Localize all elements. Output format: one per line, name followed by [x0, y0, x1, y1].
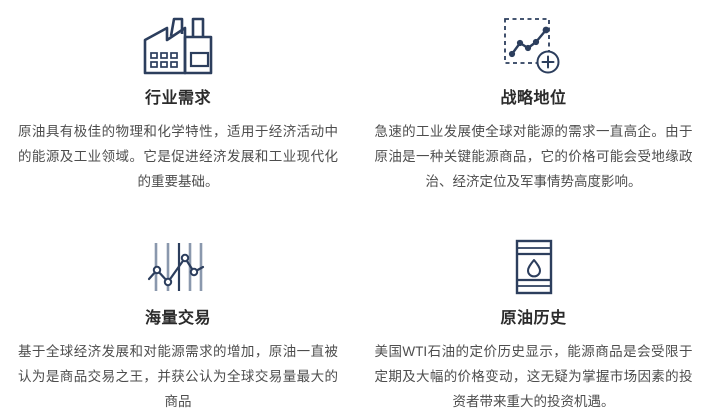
card-title: 行业需求 — [145, 88, 211, 110]
card-title: 原油历史 — [500, 308, 566, 330]
card-body: 原油具有极佳的物理和化学特性，适用于经济活动中的能源及工业领域。它是促进经济发展… — [18, 119, 338, 194]
card-body: 基于全球经济发展和对能源需求的增加，原油一直被认为是商品交易之王，并获公认为全球… — [18, 339, 338, 414]
feature-card-industry-demand: 行业需求 原油具有极佳的物理和化学特性，适用于经济活动中的能源及工业领域。它是促… — [0, 0, 356, 207]
volume-chart-icon — [146, 227, 210, 306]
card-body: 美国WTI石油的定价历史显示，能源商品是会受限于定期及大幅的价格变动，这无疑为掌… — [375, 339, 693, 414]
feature-grid: 行业需求 原油具有极佳的物理和化学特性，适用于经济活动中的能源及工业领域。它是促… — [0, 0, 711, 414]
feature-card-crude-oil-history: 原油历史 美国WTI石油的定价历史显示，能源商品是会受限于定期及大幅的价格变动，… — [356, 207, 711, 414]
card-body: 急速的工业发展使全球对能源的需求一直高企。由于原油是一种关键能源商品，它的价格可… — [375, 119, 693, 194]
factory-icon — [141, 6, 215, 86]
card-title: 战略地位 — [500, 88, 566, 110]
feature-card-strategic-position: 战略地位 急速的工业发展使全球对能源的需求一直高企。由于原油是一种关键能源商品，… — [356, 0, 711, 207]
line-chart-add-icon — [501, 6, 567, 86]
feature-card-massive-trading: 海量交易 基于全球经济发展和对能源需求的增加，原油一直被认为是商品交易之王，并获… — [0, 207, 356, 414]
oil-barrel-icon — [511, 227, 557, 306]
card-title: 海量交易 — [145, 308, 211, 330]
